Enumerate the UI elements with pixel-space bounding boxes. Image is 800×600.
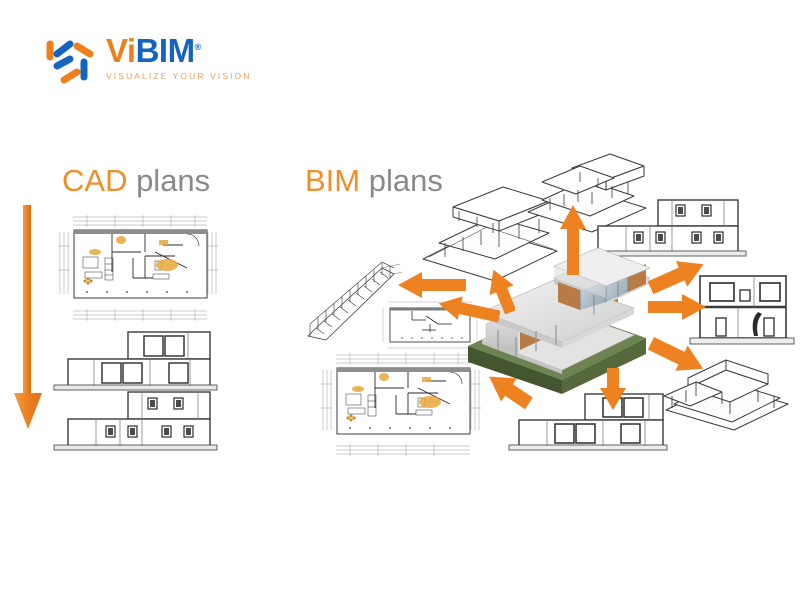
cad-elevation-front	[50, 328, 220, 392]
vibim-wordmark: ViBIM® VISUALIZE YOUR VISION	[106, 34, 252, 81]
brand-name-part1: Vi	[106, 32, 136, 69]
brand-name-part2: BIM	[136, 32, 195, 69]
bim-arrow-down	[600, 368, 626, 410]
slide-canvas: ViBIM® VISUALIZE YOUR VISION CAD plans B…	[0, 0, 800, 600]
vibim-logo[interactable]: ViBIM® VISUALIZE YOUR VISION	[40, 28, 270, 94]
bim-label-highlight: BIM	[305, 163, 360, 198]
bim-arrow-up-top	[560, 205, 586, 275]
bim-arrow-up-right	[648, 258, 706, 294]
brand-tagline: VISUALIZE YOUR VISION	[106, 71, 252, 81]
bim-arrow-left-lower	[438, 296, 500, 324]
registered-mark: ®	[195, 42, 201, 52]
vibim-hexagon-mark-icon	[44, 32, 102, 90]
bim-arrow-down-right	[648, 336, 706, 376]
bim-arrow-right	[648, 294, 706, 320]
cad-floor-plan	[55, 212, 221, 324]
cad-down-arrow	[10, 205, 46, 433]
bim-arrow-left	[398, 272, 466, 298]
cad-label-highlight: CAD	[62, 163, 127, 198]
cad-section-label: CAD plans	[62, 163, 210, 199]
cad-elevation-rear	[50, 388, 220, 452]
bim-elevation-right-upper	[588, 196, 748, 260]
bim-arrow-down-left	[485, 370, 533, 410]
cad-label-plain: plans	[127, 163, 210, 198]
